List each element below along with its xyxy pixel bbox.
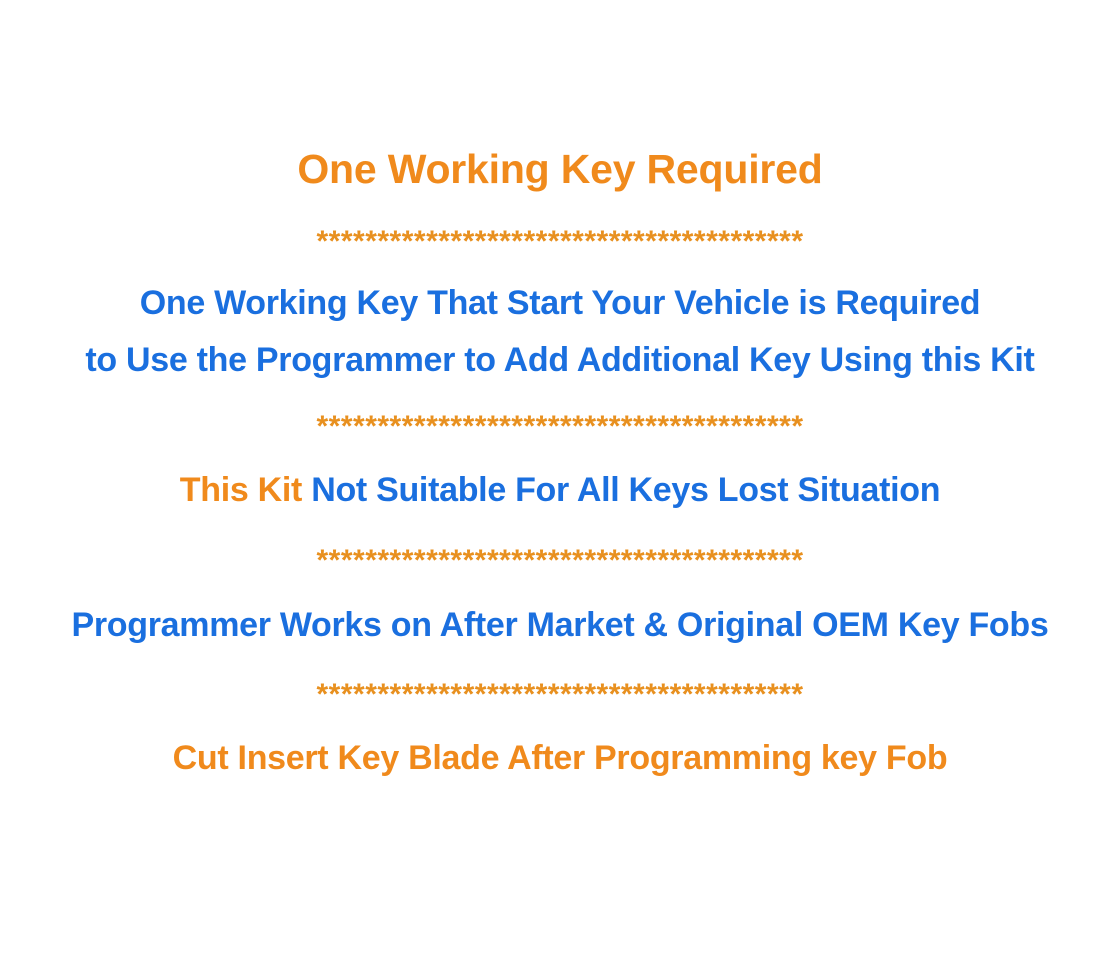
working-key-requirement-line-1: One Working Key That Start Your Vehicle … xyxy=(140,285,981,321)
all-keys-lost-notice: This Kit Not Suitable For All Keys Lost … xyxy=(180,472,940,508)
cut-key-blade-note: Cut Insert Key Blade After Programming k… xyxy=(173,740,948,776)
all-keys-lost-rest: Not Suitable For All Keys Lost Situation xyxy=(302,471,940,509)
all-keys-lost-highlight: This Kit xyxy=(180,471,302,509)
programmer-compatibility-line: Programmer Works on After Market & Origi… xyxy=(72,607,1049,643)
page-title: One Working Key Required xyxy=(297,148,822,191)
working-key-requirement-line-2: to Use the Programmer to Add Additional … xyxy=(85,342,1034,378)
key-programming-info-panel: One Working Key Required ***************… xyxy=(0,0,1120,956)
separator-rule-1: **************************************** xyxy=(317,227,804,257)
separator-rule-3: **************************************** xyxy=(317,546,804,576)
separator-rule-4: **************************************** xyxy=(317,680,804,710)
separator-rule-2: **************************************** xyxy=(317,412,804,442)
